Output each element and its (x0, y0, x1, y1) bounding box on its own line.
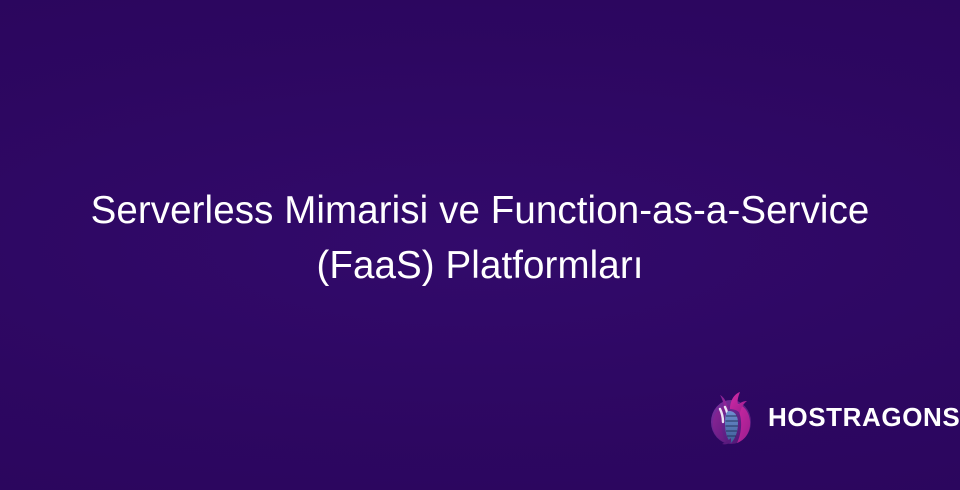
dragon-logo-mark (708, 389, 754, 445)
page-title: Serverless Mimarisi ve Function-as-a-Ser… (0, 183, 960, 293)
page-title-line-1: Serverless Mimarisi ve Function-as-a-Ser… (60, 183, 900, 238)
brand-wordmark: HOSTRAGONS® (768, 404, 960, 430)
brand-logo: HOSTRAGONS® (708, 388, 960, 446)
article-header-banner: Serverless Mimarisi ve Function-as-a-Ser… (0, 0, 960, 490)
brand-wordmark-text: HOSTRAGONS (768, 402, 960, 432)
page-title-line-2: (FaaS) Platformları (60, 238, 900, 293)
